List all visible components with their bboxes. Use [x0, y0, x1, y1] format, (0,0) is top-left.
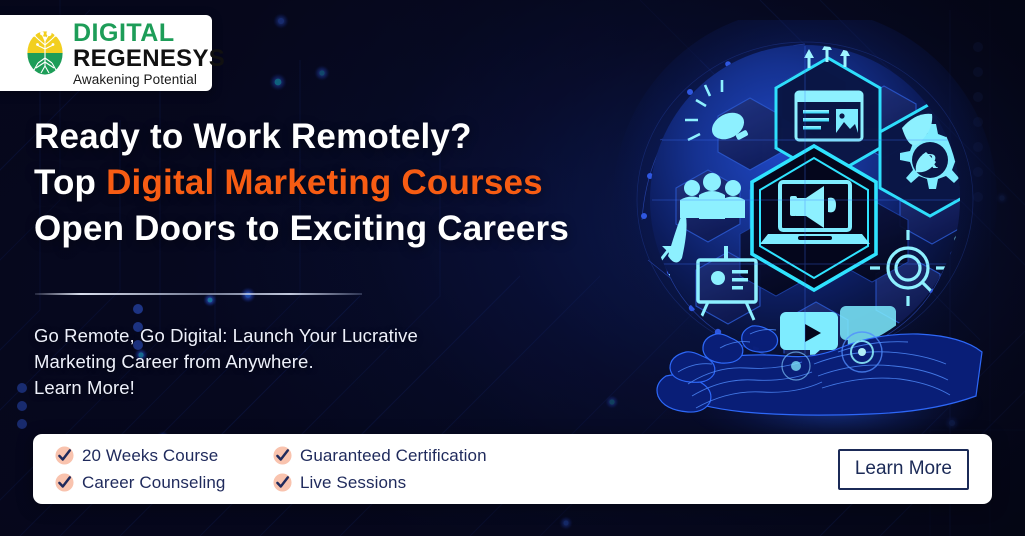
- headline: Ready to Work Remotely? Top Digital Mark…: [34, 114, 569, 252]
- feature-list: 20 Weeks Course Guaranteed Certification…: [55, 442, 487, 496]
- subtext-line-1: Go Remote, Go Digital: Launch Your Lucra…: [34, 323, 418, 349]
- subtext-line-2: Marketing Career from Anywhere.: [34, 349, 418, 375]
- check-icon: [273, 446, 292, 465]
- tree-emblem-icon: [24, 28, 66, 78]
- subtext: Go Remote, Go Digital: Launch Your Lucra…: [34, 323, 418, 401]
- logo-tagline: Awakening Potential: [73, 73, 225, 87]
- feature-label: Live Sessions: [300, 473, 406, 493]
- learn-more-button[interactable]: Learn More: [838, 449, 969, 490]
- logo-line-1: DIGITAL: [73, 21, 225, 46]
- headline-line-1: Ready to Work Remotely?: [34, 114, 569, 160]
- headline-line-3: Open Doors to Exciting Careers: [34, 206, 569, 252]
- check-icon: [273, 473, 292, 492]
- headline-line-2-prefix: Top: [34, 163, 106, 202]
- brand-logo[interactable]: DIGITAL REGENESYS Awakening Potential: [0, 15, 212, 91]
- feature-item-live-sessions: Live Sessions: [273, 469, 487, 496]
- feature-label: Career Counseling: [82, 473, 225, 493]
- subtext-line-3: Learn More!: [34, 375, 418, 401]
- promo-banner: R: [0, 0, 1025, 536]
- section-divider: [35, 293, 362, 295]
- cta-container: Learn More: [838, 449, 969, 490]
- feature-item-career-counseling: Career Counseling: [55, 469, 273, 496]
- feature-card: 20 Weeks Course Guaranteed Certification…: [33, 434, 992, 504]
- feature-item-guaranteed-certification: Guaranteed Certification: [273, 442, 487, 469]
- feature-label: Guaranteed Certification: [300, 446, 487, 466]
- logo-line-2: REGENESYS: [73, 47, 225, 71]
- feature-item-20-weeks-course: 20 Weeks Course: [55, 442, 273, 469]
- headline-line-2-accent: Digital Marketing Courses: [106, 163, 543, 202]
- check-icon: [55, 446, 74, 465]
- headline-line-2: Top Digital Marketing Courses: [34, 160, 569, 206]
- check-icon: [55, 473, 74, 492]
- feature-label: 20 Weeks Course: [82, 446, 218, 466]
